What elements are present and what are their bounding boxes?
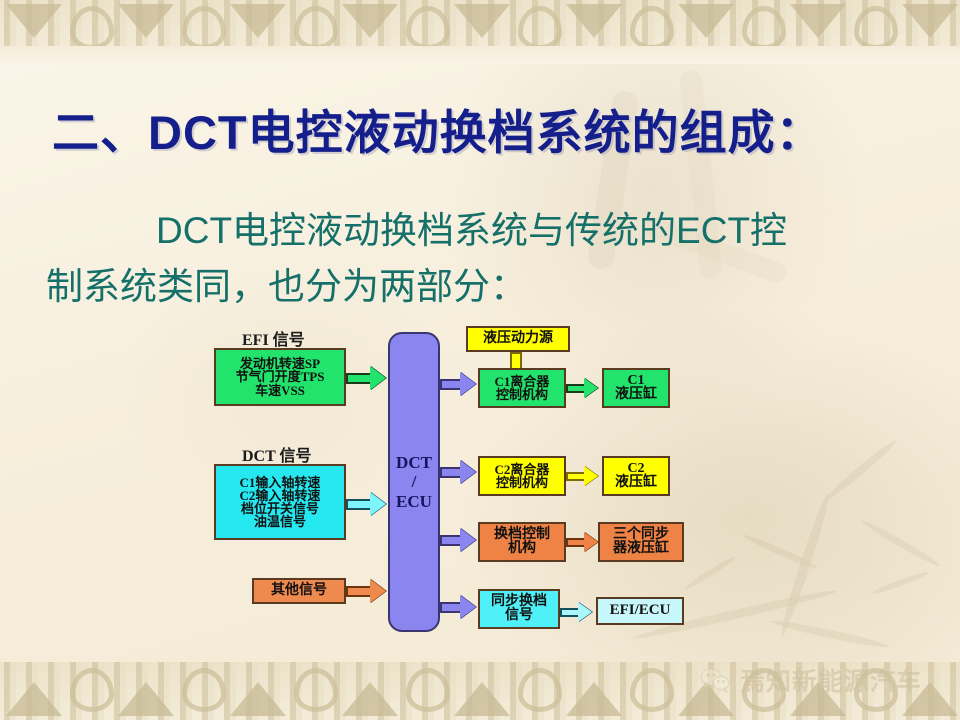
efi-ecu-label: EFI/ECU xyxy=(610,603,671,618)
c2-actuator-line-1: C2离合器 xyxy=(495,463,550,476)
sync-signal-line-1: 同步换档 xyxy=(491,595,547,609)
dct-line-3: 档位开关信号 xyxy=(241,502,319,515)
ecu-line-1: DCT xyxy=(396,453,432,472)
c1-cylinder-line-2: 液压缸 xyxy=(615,388,657,402)
dct-line-4: 油温信号 xyxy=(254,515,306,528)
dct-system-block-diagram: EFI 信号 DCT 信号 发动机转速SP 节气门开度TPS 车速VSS C1输… xyxy=(190,322,710,652)
dct-ecu-block[interactable]: DCT / ECU xyxy=(388,332,440,632)
c2-cylinder-line-2: 液压缸 xyxy=(615,476,657,490)
shift-control-actuator-box[interactable]: 换档控制 机构 xyxy=(478,522,566,562)
footer-account: 焉知新能源汽车 xyxy=(700,662,922,698)
slide-title: 二、DCT电控液动换档系统的组成： xyxy=(52,94,932,163)
wechat-icon xyxy=(700,667,730,693)
shift-actuator-line-2: 机构 xyxy=(508,542,536,556)
c2-clutch-actuator-box[interactable]: C2离合器 控制机构 xyxy=(478,456,566,496)
efi-line-1: 发动机转速SP xyxy=(240,357,320,370)
c1-clutch-actuator-box[interactable]: C1离合器 控制机构 xyxy=(478,368,566,408)
efi-ecu-box[interactable]: EFI/ECU xyxy=(596,597,684,625)
hydraulic-power-source-box[interactable]: 液压动力源 xyxy=(466,326,570,352)
efi-line-2: 节气门开度TPS xyxy=(236,370,325,383)
dct-line-1: C1输入轴转速 xyxy=(240,476,321,489)
dct-signal-box[interactable]: C1输入轴转速 C2输入轴转速 档位开关信号 油温信号 xyxy=(214,464,346,540)
c1-actuator-line-1: C1离合器 xyxy=(495,375,550,388)
other-line-1: 其他信号 xyxy=(271,584,327,598)
other-signal-box[interactable]: 其他信号 xyxy=(252,578,346,604)
dct-group-label: DCT 信号 xyxy=(242,442,312,466)
body-line-1: DCT电控液动换档系统与传统的ECT控 xyxy=(156,210,787,251)
account-name: 焉知新能源汽车 xyxy=(740,662,922,698)
sync-shift-signal-box[interactable]: 同步换档 信号 xyxy=(478,589,560,629)
c1-cylinder-line-1: C1 xyxy=(627,374,644,388)
sync-cylinders-line-2: 器液压缸 xyxy=(613,542,669,556)
slide-canvas: 二、DCT电控液动换档系统的组成： DCT电控液动换档系统与传统的ECT控 制系… xyxy=(0,0,960,720)
ecu-line-2: / xyxy=(412,472,417,491)
efi-group-label: EFI 信号 xyxy=(242,326,305,350)
efi-signal-box[interactable]: 发动机转速SP 节气门开度TPS 车速VSS xyxy=(214,348,346,406)
top-border-fade xyxy=(0,46,960,64)
sync-signal-line-2: 信号 xyxy=(505,609,533,623)
three-synchronizer-cylinders-box[interactable]: 三个同步 器液压缸 xyxy=(598,522,684,562)
shift-actuator-line-1: 换档控制 xyxy=(494,528,550,542)
body-line-2: 制系统类同，也分为两部分： xyxy=(46,266,527,307)
ecu-line-3: ECU xyxy=(396,492,432,511)
power-source-label: 液压动力源 xyxy=(483,332,553,346)
c1-hydraulic-cylinder-box[interactable]: C1 液压缸 xyxy=(602,368,670,408)
dct-line-2: C2输入轴转速 xyxy=(240,489,321,502)
c1-actuator-line-2: 控制机构 xyxy=(496,388,548,401)
slide-body: DCT电控液动换档系统与传统的ECT控 制系统类同，也分为两部分： xyxy=(46,203,926,315)
c2-hydraulic-cylinder-box[interactable]: C2 液压缸 xyxy=(602,456,670,496)
c2-actuator-line-2: 控制机构 xyxy=(496,476,548,489)
c2-cylinder-line-1: C2 xyxy=(627,462,644,476)
efi-line-3: 车速VSS xyxy=(255,384,305,397)
sync-cylinders-line-1: 三个同步 xyxy=(613,528,669,542)
